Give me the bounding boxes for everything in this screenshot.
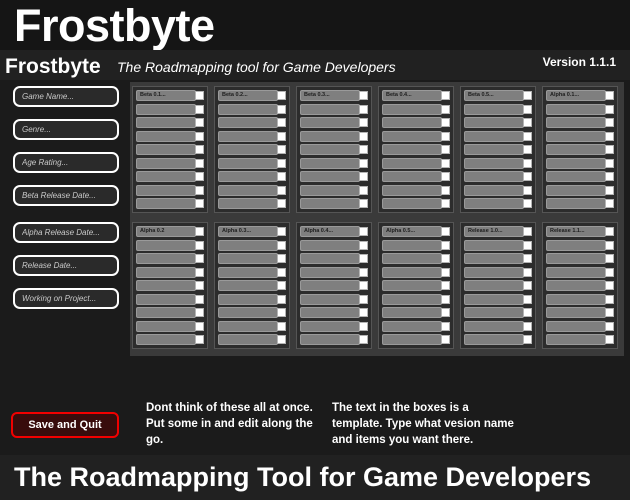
card-item-checkbox[interactable] — [195, 254, 204, 263]
card-item-input[interactable] — [300, 158, 360, 169]
card-row — [382, 198, 451, 209]
card-item-checkbox[interactable] — [441, 322, 450, 331]
card-item-checkbox[interactable] — [195, 105, 204, 114]
card-row — [464, 198, 533, 209]
card-item-input[interactable] — [300, 104, 360, 115]
card-item-input[interactable] — [546, 307, 606, 318]
card-row — [300, 171, 369, 182]
card-item-checkbox[interactable] — [195, 199, 204, 208]
card-item-checkbox[interactable] — [441, 91, 450, 100]
version-card: Alpha 0.4... — [296, 222, 372, 349]
save-and-quit-label: Save and Quit — [28, 419, 101, 431]
card-item-input[interactable] — [136, 171, 196, 182]
card-item-checkbox[interactable] — [605, 118, 614, 127]
card-item-input[interactable] — [136, 144, 196, 155]
card-item-input[interactable] — [464, 321, 524, 332]
card-item-checkbox[interactable] — [277, 227, 286, 236]
card-item-input[interactable] — [218, 240, 278, 251]
card-item-input[interactable] — [300, 198, 360, 209]
card-item-checkbox[interactable] — [441, 118, 450, 127]
card-row — [300, 280, 369, 291]
input-genre[interactable]: Genre... — [13, 119, 119, 140]
card-item-checkbox[interactable] — [277, 322, 286, 331]
card-title-input[interactable]: Beta 0.5... — [464, 90, 524, 101]
card-item-input[interactable] — [136, 294, 196, 305]
card-item-input[interactable] — [382, 240, 442, 251]
card-item-checkbox[interactable] — [605, 159, 614, 168]
card-row — [546, 131, 615, 142]
card-item-checkbox[interactable] — [195, 91, 204, 100]
card-item-checkbox[interactable] — [195, 132, 204, 141]
card-item-checkbox[interactable] — [277, 186, 286, 195]
card-item-input[interactable] — [464, 185, 524, 196]
card-row — [136, 171, 205, 182]
card-item-checkbox[interactable] — [441, 308, 450, 317]
card-row — [382, 158, 451, 169]
card-item-input[interactable] — [218, 321, 278, 332]
card-item-input[interactable] — [136, 307, 196, 318]
card-item-checkbox[interactable] — [523, 281, 532, 290]
card-item-input[interactable] — [546, 198, 606, 209]
card-item-input[interactable] — [382, 131, 442, 142]
card-row — [300, 294, 369, 305]
card-item-input[interactable] — [546, 104, 606, 115]
card-row — [546, 117, 615, 128]
card-item-checkbox[interactable] — [277, 118, 286, 127]
card-item-checkbox[interactable] — [441, 254, 450, 263]
card-item-checkbox[interactable] — [359, 105, 368, 114]
input-release-date-placeholder: Release Date... — [22, 261, 77, 270]
card-item-input[interactable] — [546, 144, 606, 155]
card-item-checkbox[interactable] — [359, 159, 368, 168]
card-item-checkbox[interactable] — [359, 227, 368, 236]
card-item-checkbox[interactable] — [441, 268, 450, 277]
card-item-checkbox[interactable] — [605, 268, 614, 277]
card-row — [464, 185, 533, 196]
card-item-input[interactable] — [218, 131, 278, 142]
card-row — [382, 280, 451, 291]
card-row — [218, 240, 287, 251]
card-item-checkbox[interactable] — [605, 281, 614, 290]
card-item-input[interactable] — [382, 307, 442, 318]
card-row — [546, 171, 615, 182]
card-item-input[interactable] — [218, 267, 278, 278]
card-item-checkbox[interactable] — [605, 227, 614, 236]
input-age-rating-placeholder: Age Rating... — [22, 158, 68, 167]
card-row — [464, 240, 533, 251]
save-and-quit-button[interactable]: Save and Quit — [11, 412, 119, 438]
help-text-right: The text in the boxes is a template. Typ… — [332, 400, 522, 448]
card-row — [382, 294, 451, 305]
card-item-checkbox[interactable] — [359, 172, 368, 181]
card-item-input[interactable] — [546, 321, 606, 332]
card-item-checkbox[interactable] — [195, 308, 204, 317]
card-item-checkbox[interactable] — [195, 268, 204, 277]
card-title-input[interactable]: Alpha 0.5... — [382, 226, 442, 237]
card-item-input[interactable] — [136, 240, 196, 251]
card-item-checkbox[interactable] — [441, 145, 450, 154]
card-item-checkbox[interactable] — [277, 295, 286, 304]
card-item-checkbox[interactable] — [605, 91, 614, 100]
card-title-input[interactable]: Alpha 0.3... — [218, 226, 278, 237]
card-item-checkbox[interactable] — [359, 132, 368, 141]
card-item-input[interactable] — [218, 185, 278, 196]
card-item-input[interactable] — [300, 334, 360, 345]
card-item-input[interactable] — [464, 198, 524, 209]
card-item-input[interactable] — [136, 131, 196, 142]
card-title-input[interactable]: Release 1.0... — [464, 226, 524, 237]
version-card: Release 1.0... — [460, 222, 536, 349]
card-row — [382, 334, 451, 345]
card-item-checkbox[interactable] — [605, 105, 614, 114]
card-item-checkbox[interactable] — [359, 295, 368, 304]
card-row — [136, 307, 205, 318]
card-item-checkbox[interactable] — [441, 172, 450, 181]
card-item-checkbox[interactable] — [441, 227, 450, 236]
card-item-checkbox[interactable] — [277, 199, 286, 208]
app-tagline: The Roadmapping tool for Game Developers — [117, 57, 396, 77]
card-item-input[interactable] — [546, 117, 606, 128]
card-item-input[interactable] — [136, 253, 196, 264]
card-item-checkbox[interactable] — [277, 241, 286, 250]
card-row — [464, 280, 533, 291]
input-alpha-release-date[interactable]: Alpha Release Date... — [13, 222, 119, 243]
card-row: Beta 0.4... — [382, 90, 451, 101]
card-item-checkbox[interactable] — [277, 254, 286, 263]
version-card: Alpha 0.5... — [378, 222, 454, 349]
card-row — [546, 321, 615, 332]
card-item-input[interactable] — [546, 240, 606, 251]
card-item-checkbox[interactable] — [359, 91, 368, 100]
card-item-checkbox[interactable] — [605, 241, 614, 250]
card-item-checkbox[interactable] — [277, 335, 286, 344]
card-item-checkbox[interactable] — [523, 335, 532, 344]
card-item-input[interactable] — [136, 104, 196, 115]
card-item-input[interactable] — [546, 131, 606, 142]
card-item-checkbox[interactable] — [441, 186, 450, 195]
card-item-checkbox[interactable] — [441, 199, 450, 208]
card-item-input[interactable] — [300, 131, 360, 142]
card-item-input[interactable] — [300, 185, 360, 196]
card-item-input[interactable] — [464, 117, 524, 128]
card-item-input[interactable] — [300, 294, 360, 305]
card-item-checkbox[interactable] — [195, 281, 204, 290]
input-working-on-project[interactable]: Working on Project... — [13, 288, 119, 309]
card-item-checkbox[interactable] — [523, 159, 532, 168]
card-item-checkbox[interactable] — [359, 281, 368, 290]
card-row — [136, 104, 205, 115]
card-item-input[interactable] — [546, 280, 606, 291]
card-item-checkbox[interactable] — [605, 295, 614, 304]
card-item-input[interactable] — [136, 280, 196, 291]
card-item-input[interactable] — [382, 185, 442, 196]
card-item-input[interactable] — [382, 158, 442, 169]
input-beta-release-date[interactable]: Beta Release Date... — [13, 185, 119, 206]
card-title-input[interactable]: Release 1.1... — [546, 226, 606, 237]
version-card: Beta 0.3... — [296, 86, 372, 213]
card-item-checkbox[interactable] — [523, 199, 532, 208]
card-item-checkbox[interactable] — [195, 172, 204, 181]
roadmap-grid-panel: Beta 0.1...Beta 0.2...Beta 0.3...Beta 0.… — [130, 82, 624, 356]
card-title-input[interactable]: Beta 0.1... — [136, 90, 196, 101]
card-item-checkbox[interactable] — [195, 335, 204, 344]
card-row — [546, 158, 615, 169]
card-item-checkbox[interactable] — [277, 268, 286, 277]
card-item-input[interactable] — [464, 307, 524, 318]
card-title-input[interactable]: Beta 0.2... — [218, 90, 278, 101]
card-item-input[interactable] — [136, 158, 196, 169]
version-card: Alpha 0.1... — [542, 86, 618, 213]
card-item-input[interactable] — [382, 171, 442, 182]
card-item-input[interactable] — [382, 294, 442, 305]
card-item-input[interactable] — [300, 144, 360, 155]
card-item-checkbox[interactable] — [523, 295, 532, 304]
card-row — [464, 307, 533, 318]
card-item-input[interactable] — [300, 321, 360, 332]
card-item-checkbox[interactable] — [359, 268, 368, 277]
card-item-checkbox[interactable] — [441, 105, 450, 114]
card-item-checkbox[interactable] — [523, 118, 532, 127]
version-card: Release 1.1... — [542, 222, 618, 349]
card-item-input[interactable] — [546, 158, 606, 169]
card-row: Alpha 0.4... — [300, 226, 369, 237]
card-item-input[interactable] — [464, 267, 524, 278]
card-item-checkbox[interactable] — [195, 186, 204, 195]
card-item-input[interactable] — [382, 321, 442, 332]
card-item-checkbox[interactable] — [605, 322, 614, 331]
card-row — [546, 334, 615, 345]
card-title-label: Beta 0.3... — [304, 91, 330, 100]
card-item-input[interactable] — [218, 117, 278, 128]
card-item-input[interactable] — [300, 117, 360, 128]
card-row: Beta 0.3... — [300, 90, 369, 101]
input-game-name[interactable]: Game Name... — [13, 86, 119, 107]
card-item-input[interactable] — [464, 144, 524, 155]
card-row — [300, 253, 369, 264]
card-item-checkbox[interactable] — [441, 295, 450, 304]
card-item-input[interactable] — [136, 321, 196, 332]
card-item-input[interactable] — [300, 267, 360, 278]
card-item-checkbox[interactable] — [195, 145, 204, 154]
card-item-input[interactable] — [464, 240, 524, 251]
card-item-checkbox[interactable] — [277, 159, 286, 168]
card-item-checkbox[interactable] — [523, 268, 532, 277]
card-item-input[interactable] — [136, 267, 196, 278]
card-item-checkbox[interactable] — [359, 308, 368, 317]
card-item-checkbox[interactable] — [523, 254, 532, 263]
card-row — [464, 267, 533, 278]
card-row: Alpha 0.5... — [382, 226, 451, 237]
card-item-checkbox[interactable] — [195, 118, 204, 127]
card-item-checkbox[interactable] — [277, 172, 286, 181]
card-item-checkbox[interactable] — [359, 241, 368, 250]
card-item-checkbox[interactable] — [359, 199, 368, 208]
card-title-input[interactable]: Alpha 0.1... — [546, 90, 606, 101]
card-row — [218, 294, 287, 305]
card-item-checkbox[interactable] — [359, 254, 368, 263]
card-item-checkbox[interactable] — [605, 145, 614, 154]
card-item-checkbox[interactable] — [359, 118, 368, 127]
card-item-checkbox[interactable] — [523, 322, 532, 331]
card-item-input[interactable] — [136, 198, 196, 209]
card-item-input[interactable] — [464, 104, 524, 115]
card-row — [546, 240, 615, 251]
card-row — [382, 104, 451, 115]
card-row — [218, 185, 287, 196]
card-item-checkbox[interactable] — [605, 186, 614, 195]
card-row — [218, 171, 287, 182]
card-item-checkbox[interactable] — [605, 254, 614, 263]
card-item-input[interactable] — [218, 158, 278, 169]
card-item-checkbox[interactable] — [605, 132, 614, 141]
card-item-input[interactable] — [464, 171, 524, 182]
card-item-checkbox[interactable] — [523, 132, 532, 141]
card-item-input[interactable] — [218, 280, 278, 291]
card-row — [300, 185, 369, 196]
card-row — [464, 334, 533, 345]
card-item-input[interactable] — [382, 267, 442, 278]
card-item-checkbox[interactable] — [605, 335, 614, 344]
card-item-checkbox[interactable] — [523, 172, 532, 181]
card-title-label: Beta 0.4... — [386, 91, 412, 100]
input-age-rating[interactable]: Age Rating... — [13, 152, 119, 173]
card-item-checkbox[interactable] — [195, 241, 204, 250]
card-row — [218, 117, 287, 128]
brand-name-small: Frostbyte — [5, 54, 101, 80]
card-item-input[interactable] — [382, 253, 442, 264]
card-item-input[interactable] — [382, 144, 442, 155]
card-item-input[interactable] — [546, 253, 606, 264]
card-item-input[interactable] — [464, 131, 524, 142]
card-item-checkbox[interactable] — [441, 241, 450, 250]
card-item-checkbox[interactable] — [277, 145, 286, 154]
card-item-checkbox[interactable] — [359, 186, 368, 195]
card-row — [300, 334, 369, 345]
card-item-input[interactable] — [464, 280, 524, 291]
card-item-input[interactable] — [218, 334, 278, 345]
card-item-checkbox[interactable] — [277, 105, 286, 114]
card-title-label: Alpha 0.2 — [140, 227, 164, 236]
card-row — [300, 267, 369, 278]
card-row — [218, 144, 287, 155]
card-title-input[interactable]: Beta 0.4... — [382, 90, 442, 101]
card-item-checkbox[interactable] — [359, 322, 368, 331]
card-row — [136, 253, 205, 264]
card-item-checkbox[interactable] — [523, 308, 532, 317]
card-item-checkbox[interactable] — [195, 227, 204, 236]
card-item-input[interactable] — [546, 294, 606, 305]
card-item-checkbox[interactable] — [277, 91, 286, 100]
version-card: Alpha 0.2 — [132, 222, 208, 349]
card-item-input[interactable] — [218, 171, 278, 182]
card-row: Beta 0.1... — [136, 90, 205, 101]
card-item-input[interactable] — [382, 198, 442, 209]
card-row — [382, 321, 451, 332]
card-item-input[interactable] — [464, 158, 524, 169]
card-row — [382, 144, 451, 155]
card-row — [382, 171, 451, 182]
card-item-input[interactable] — [546, 185, 606, 196]
card-row — [136, 280, 205, 291]
card-item-input[interactable] — [218, 294, 278, 305]
card-item-checkbox[interactable] — [605, 308, 614, 317]
card-item-input[interactable] — [136, 334, 196, 345]
card-item-input[interactable] — [464, 334, 524, 345]
card-item-input[interactable] — [464, 253, 524, 264]
card-item-input[interactable] — [546, 334, 606, 345]
card-row — [464, 158, 533, 169]
card-item-checkbox[interactable] — [277, 308, 286, 317]
card-item-checkbox[interactable] — [523, 105, 532, 114]
card-item-input[interactable] — [546, 267, 606, 278]
card-item-checkbox[interactable] — [523, 145, 532, 154]
card-item-input[interactable] — [382, 104, 442, 115]
card-item-checkbox[interactable] — [523, 91, 532, 100]
input-working-on-project-placeholder: Working on Project... — [22, 294, 96, 303]
card-item-checkbox[interactable] — [195, 295, 204, 304]
card-item-checkbox[interactable] — [195, 159, 204, 168]
card-item-input[interactable] — [546, 171, 606, 182]
card-item-input[interactable] — [136, 185, 196, 196]
card-row — [136, 158, 205, 169]
card-title-input[interactable]: Beta 0.3... — [300, 90, 360, 101]
card-item-input[interactable] — [218, 307, 278, 318]
card-title-label: Alpha 0.3... — [222, 227, 251, 236]
card-item-checkbox[interactable] — [441, 281, 450, 290]
card-item-input[interactable] — [300, 253, 360, 264]
card-title-input[interactable]: Alpha 0.2 — [136, 226, 196, 237]
card-item-checkbox[interactable] — [441, 159, 450, 168]
card-item-input[interactable] — [382, 334, 442, 345]
card-item-input[interactable] — [464, 294, 524, 305]
card-item-input[interactable] — [300, 171, 360, 182]
card-item-checkbox[interactable] — [195, 322, 204, 331]
card-item-checkbox[interactable] — [523, 186, 532, 195]
card-item-checkbox[interactable] — [277, 132, 286, 141]
card-row — [300, 198, 369, 209]
card-item-checkbox[interactable] — [605, 172, 614, 181]
card-item-checkbox[interactable] — [605, 199, 614, 208]
card-row — [382, 131, 451, 142]
card-item-input[interactable] — [218, 198, 278, 209]
card-row — [218, 334, 287, 345]
card-item-input[interactable] — [382, 117, 442, 128]
card-row — [382, 253, 451, 264]
card-item-input[interactable] — [300, 240, 360, 251]
card-item-input[interactable] — [136, 117, 196, 128]
card-item-checkbox[interactable] — [441, 335, 450, 344]
card-item-input[interactable] — [300, 280, 360, 291]
card-row — [136, 198, 205, 209]
card-item-checkbox[interactable] — [359, 335, 368, 344]
card-item-checkbox[interactable] — [523, 241, 532, 250]
card-item-input[interactable] — [382, 280, 442, 291]
card-item-checkbox[interactable] — [359, 145, 368, 154]
input-release-date[interactable]: Release Date... — [13, 255, 119, 276]
card-item-input[interactable] — [218, 253, 278, 264]
card-row — [136, 144, 205, 155]
card-item-input[interactable] — [300, 307, 360, 318]
card-item-checkbox[interactable] — [277, 281, 286, 290]
card-item-input[interactable] — [218, 144, 278, 155]
card-item-checkbox[interactable] — [523, 227, 532, 236]
card-title-input[interactable]: Alpha 0.4... — [300, 226, 360, 237]
card-item-checkbox[interactable] — [441, 132, 450, 141]
version-card: Beta 0.2... — [214, 86, 290, 213]
card-row — [218, 267, 287, 278]
card-row: Beta 0.5... — [464, 90, 533, 101]
card-item-input[interactable] — [218, 104, 278, 115]
